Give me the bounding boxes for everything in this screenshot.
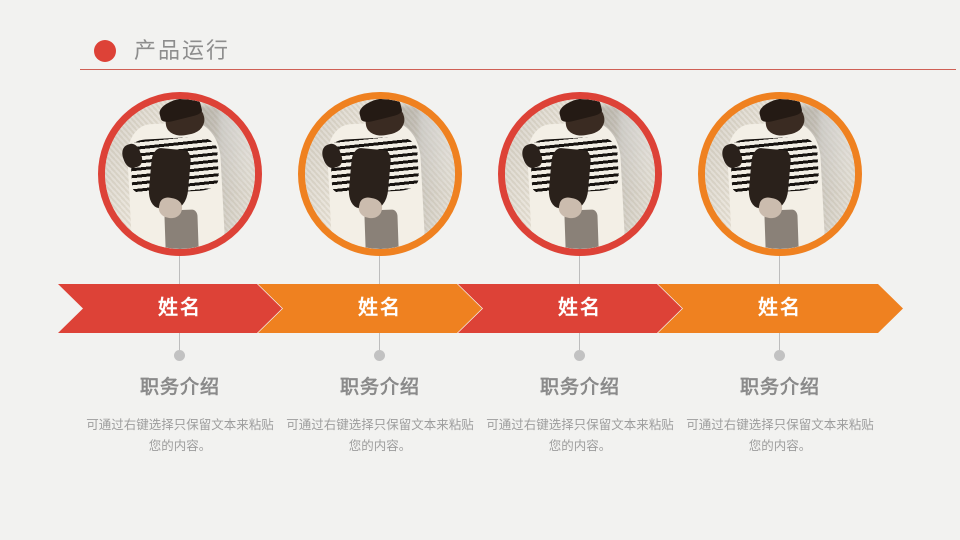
- team-member-column-2: 职务介绍 可通过右键选择只保留文本来粘贴您的内容。: [280, 0, 480, 540]
- connector-dot-2: [374, 350, 385, 361]
- connector-line-top-1: [179, 256, 180, 284]
- team-member-column-1: 职务介绍 可通过右键选择只保留文本来粘贴您的内容。: [80, 0, 280, 540]
- member-photo-image-3: [505, 99, 655, 249]
- role-description-3: 可通过右键选择只保留文本来粘贴您的内容。: [482, 415, 678, 457]
- connector-line-top-3: [579, 256, 580, 284]
- member-photo-2[interactable]: [298, 92, 462, 256]
- team-member-column-3: 职务介绍 可通过右键选择只保留文本来粘贴您的内容。: [480, 0, 680, 540]
- connector-dot-3: [574, 350, 585, 361]
- member-photo-3[interactable]: [498, 92, 662, 256]
- role-description-4: 可通过右键选择只保留文本来粘贴您的内容。: [682, 415, 878, 457]
- member-photo-image-4: [705, 99, 855, 249]
- connector-dot-4: [774, 350, 785, 361]
- member-photo-image-1: [105, 99, 255, 249]
- role-description-1: 可通过右键选择只保留文本来粘贴您的内容。: [82, 415, 278, 457]
- member-photo-4[interactable]: [698, 92, 862, 256]
- role-title-1: 职务介绍: [80, 375, 280, 401]
- role-title-4: 职务介绍: [680, 375, 880, 401]
- team-member-column-4: 职务介绍 可通过右键选择只保留文本来粘贴您的内容。: [680, 0, 880, 540]
- role-description-2: 可通过右键选择只保留文本来粘贴您的内容。: [282, 415, 478, 457]
- connector-line-top-4: [779, 256, 780, 284]
- team-columns: 职务介绍 可通过右键选择只保留文本来粘贴您的内容。 职务介绍 可通过右键选择只保: [0, 0, 960, 540]
- member-photo-1[interactable]: [98, 92, 262, 256]
- role-title-3: 职务介绍: [480, 375, 680, 401]
- connector-line-top-2: [379, 256, 380, 284]
- member-photo-image-2: [305, 99, 455, 249]
- connector-dot-1: [174, 350, 185, 361]
- role-title-2: 职务介绍: [280, 375, 480, 401]
